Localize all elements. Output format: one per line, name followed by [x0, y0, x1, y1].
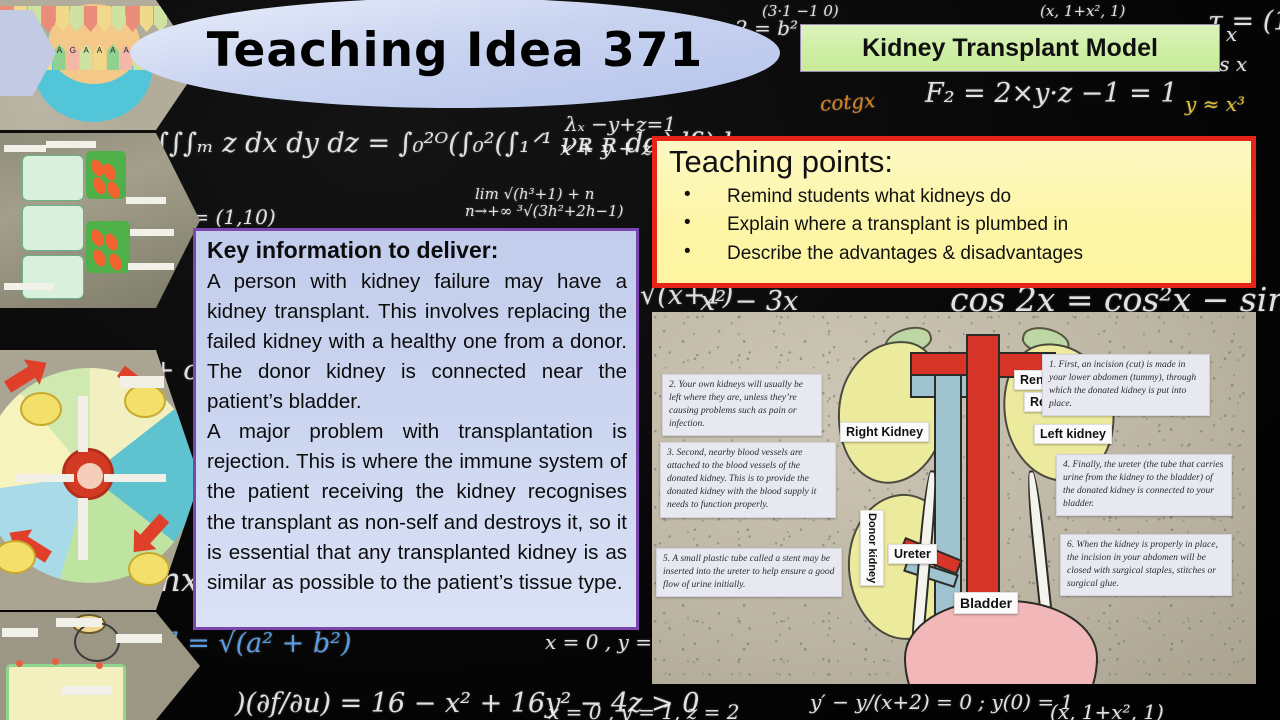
chalk-formula: n→+∞ ³√(3h²+2h−1)	[465, 202, 623, 220]
chalk-formula: cotgx	[819, 88, 876, 116]
key-information-box: Key information to deliver: A person wit…	[193, 228, 639, 630]
strip-photo-cell-wall-model[interactable]	[0, 612, 200, 720]
teaching-points-list: Remind students what kidneys do Explain …	[669, 183, 1239, 269]
instruction-card-2: 2. Your own kidneys will usually be left…	[662, 374, 822, 436]
label-bladder: Bladder	[954, 592, 1018, 614]
label-left-kidney: Left kidney	[1034, 424, 1112, 444]
teaching-point-item: Remind students what kidneys do	[669, 183, 1239, 212]
instruction-card-1: 1. First, an incision (cut) is made in y…	[1042, 354, 1210, 416]
instruction-card-5: 5. A small plastic tube called a stent m…	[656, 548, 842, 597]
label-ureter: Ureter	[888, 544, 937, 564]
chalk-formula: x = 0 , y = 1, z = 2	[548, 700, 740, 720]
key-information-paragraph: A major problem with transplantation is …	[207, 417, 627, 598]
chalk-formula: lim √(h³+1) + n	[475, 185, 594, 203]
label-donor-kidney: Donor kidney	[860, 510, 884, 586]
chalk-formula: (x, 1+x², 1)	[1040, 2, 1125, 20]
chalk-formula: y′ − y/(x+2) = 0 ; y(0) = 1	[810, 690, 1073, 714]
teaching-points-heading: Teaching points:	[669, 146, 1239, 179]
chalk-formula: y ≈ x³	[1185, 92, 1245, 116]
subtitle-box: Kidney Transplant Model	[800, 24, 1220, 72]
photo-strip: G A U A A G A A A A A C C G T	[0, 0, 200, 720]
label-right-kidney: Right Kidney	[840, 422, 929, 442]
chalk-formula: )(∂f/∂u) = 16 − x² + 16y² − 4z > 0	[235, 688, 699, 719]
subtitle-label: Kidney Transplant Model	[862, 34, 1158, 63]
slide-canvas: (3·1 −1 0) 2 = b² τ = (1,10) sin x cos x…	[0, 0, 1280, 720]
chalk-formula: (x, 1+x², 1)	[1050, 700, 1164, 720]
key-information-heading: Key information to deliver:	[207, 237, 627, 265]
teaching-points-box: Teaching points: Remind students what ki…	[652, 136, 1256, 288]
teaching-point-item: Explain where a transplant is plumbed in	[669, 211, 1239, 240]
instruction-card-3: 3. Second, nearby blood vessels are atta…	[660, 442, 836, 518]
strip-photo-plant-cell-model[interactable]	[0, 133, 200, 308]
slide-title-banner: Teaching Idea 371	[130, 0, 780, 108]
key-information-paragraph: A person with kidney failure may have a …	[207, 267, 627, 418]
instruction-card-4: 4. Finally, the ureter (the tube that ca…	[1056, 454, 1232, 516]
strip-photo-cell-cycle-model[interactable]	[0, 350, 200, 610]
page-title: Teaching Idea 371	[207, 23, 704, 78]
chalk-formula: F₂ = 2×y·z −1 = 1	[925, 78, 1178, 109]
teaching-point-item: Describe the advantages & disadvantages	[669, 240, 1239, 269]
chalk-formula: (3·1 −1 0)	[762, 2, 839, 20]
kidney-transplant-model-photo[interactable]: Right Kidney Left kidney Renal Artery Re…	[652, 312, 1256, 684]
instruction-card-6: 6. When the kidney is properly in place,…	[1060, 534, 1232, 596]
chalk-formula: λₓ −y+z=1	[565, 112, 676, 136]
